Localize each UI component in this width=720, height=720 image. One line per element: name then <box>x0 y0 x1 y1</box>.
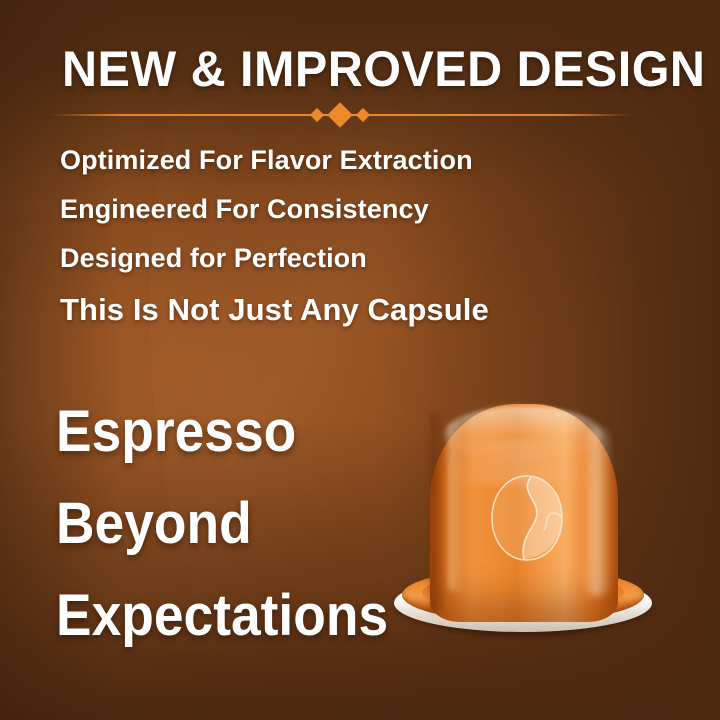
tagline-line-2: Beyond <box>56 478 424 570</box>
promo-poster: NEW & IMPROVED DESIGN Optimized For Flav… <box>0 0 720 720</box>
diamond-ornament-divider <box>50 104 632 126</box>
diamond-icon-center <box>327 102 352 127</box>
diamond-icon-left <box>310 108 324 122</box>
capsule-left-edge-shade <box>430 412 446 612</box>
capsule-gloss-top <box>444 406 602 464</box>
poster-content: NEW & IMPROVED DESIGN Optimized For Flav… <box>0 0 720 720</box>
feature-item-1: Optimized For Flavor Extraction <box>60 136 660 185</box>
coffee-capsule-image <box>392 396 654 648</box>
coffee-bean-icon <box>490 474 564 562</box>
feature-item-4: This Is Not Just Any Capsule <box>60 283 660 336</box>
feature-list: Optimized For Flavor Extraction Engineer… <box>60 136 660 336</box>
tagline-line-3: Expectations <box>56 570 424 662</box>
feature-item-2: Engineered For Consistency <box>60 185 660 234</box>
diamond-icon-right <box>356 108 370 122</box>
feature-item-3: Designed for Perfection <box>60 234 660 283</box>
tagline-line-1: Espresso <box>56 386 424 478</box>
page-title: NEW & IMPROVED DESIGN <box>62 42 644 96</box>
